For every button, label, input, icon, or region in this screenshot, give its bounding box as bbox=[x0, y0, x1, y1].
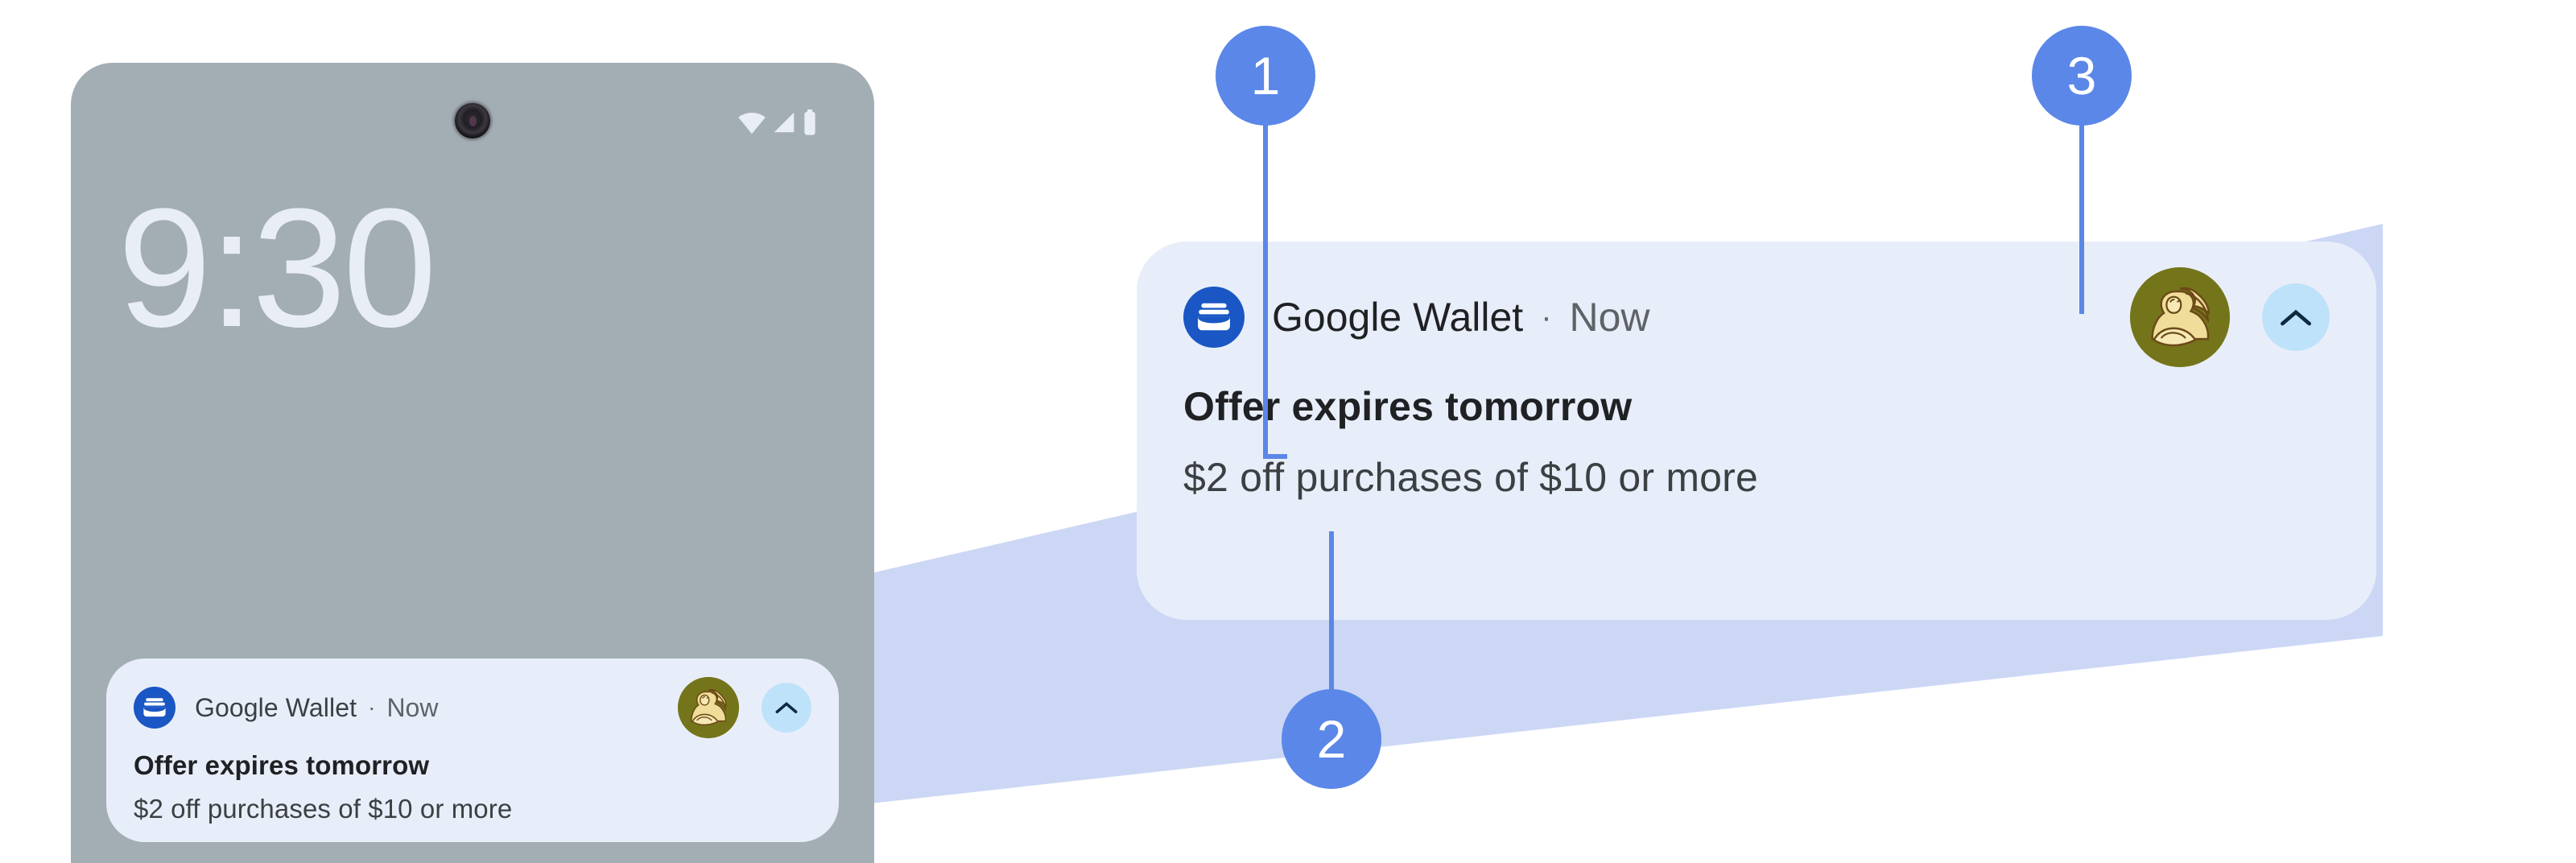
callout-2-leader-vertical bbox=[1329, 531, 1334, 707]
status-bar-icons bbox=[737, 105, 818, 140]
merchant-avatar-icon bbox=[678, 677, 739, 738]
notification-card-small[interactable]: Google Wallet · Now bbox=[106, 659, 839, 842]
front-camera-punch-hole-icon bbox=[455, 103, 490, 138]
google-wallet-icon bbox=[1183, 287, 1245, 348]
phone-mockup: 9:30 Google Wallet · Now bbox=[71, 63, 874, 863]
notification-timestamp: Now bbox=[386, 693, 438, 723]
notification-title: Offer expires tomorrow bbox=[1183, 383, 2330, 430]
battery-icon bbox=[802, 109, 818, 135]
notification-app-name: Google Wallet bbox=[1272, 294, 1523, 341]
notification-header: Google Wallet · Now bbox=[134, 683, 811, 733]
chevron-up-icon bbox=[775, 700, 798, 715]
google-wallet-icon bbox=[134, 687, 175, 729]
notification-header-magnified: Google Wallet · Now bbox=[1183, 283, 2330, 351]
cellular-signal-icon bbox=[772, 110, 796, 134]
notification-app-name: Google Wallet bbox=[195, 693, 357, 723]
notification-body: $2 off purchases of $10 or more bbox=[134, 794, 811, 824]
anatomy-diagram: 9:30 Google Wallet · Now bbox=[0, 0, 2576, 863]
callout-2-number: 2 bbox=[1282, 689, 1381, 789]
callout-1-leader-horizontal bbox=[1263, 454, 1287, 459]
callout-3-number: 3 bbox=[2032, 26, 2132, 126]
notification-separator: · bbox=[1541, 301, 1551, 333]
merchant-avatar-icon bbox=[2130, 267, 2230, 367]
callout-1-leader-vertical bbox=[1263, 122, 1268, 459]
wifi-icon bbox=[737, 110, 766, 134]
chevron-up-icon bbox=[2280, 308, 2312, 328]
notification-title: Offer expires tomorrow bbox=[134, 750, 811, 781]
notification-card-magnified[interactable]: Google Wallet · Now bbox=[1137, 242, 2376, 620]
notification-body: $2 off purchases of $10 or more bbox=[1183, 454, 2330, 501]
lock-screen-clock: 9:30 bbox=[118, 184, 434, 353]
callout-1-number: 1 bbox=[1216, 26, 1315, 126]
expand-notification-button[interactable] bbox=[762, 683, 811, 733]
notification-timestamp: Now bbox=[1570, 294, 1650, 341]
callout-3-leader-vertical bbox=[2079, 122, 2084, 314]
expand-notification-button[interactable] bbox=[2262, 283, 2330, 351]
notification-separator: · bbox=[368, 696, 375, 719]
